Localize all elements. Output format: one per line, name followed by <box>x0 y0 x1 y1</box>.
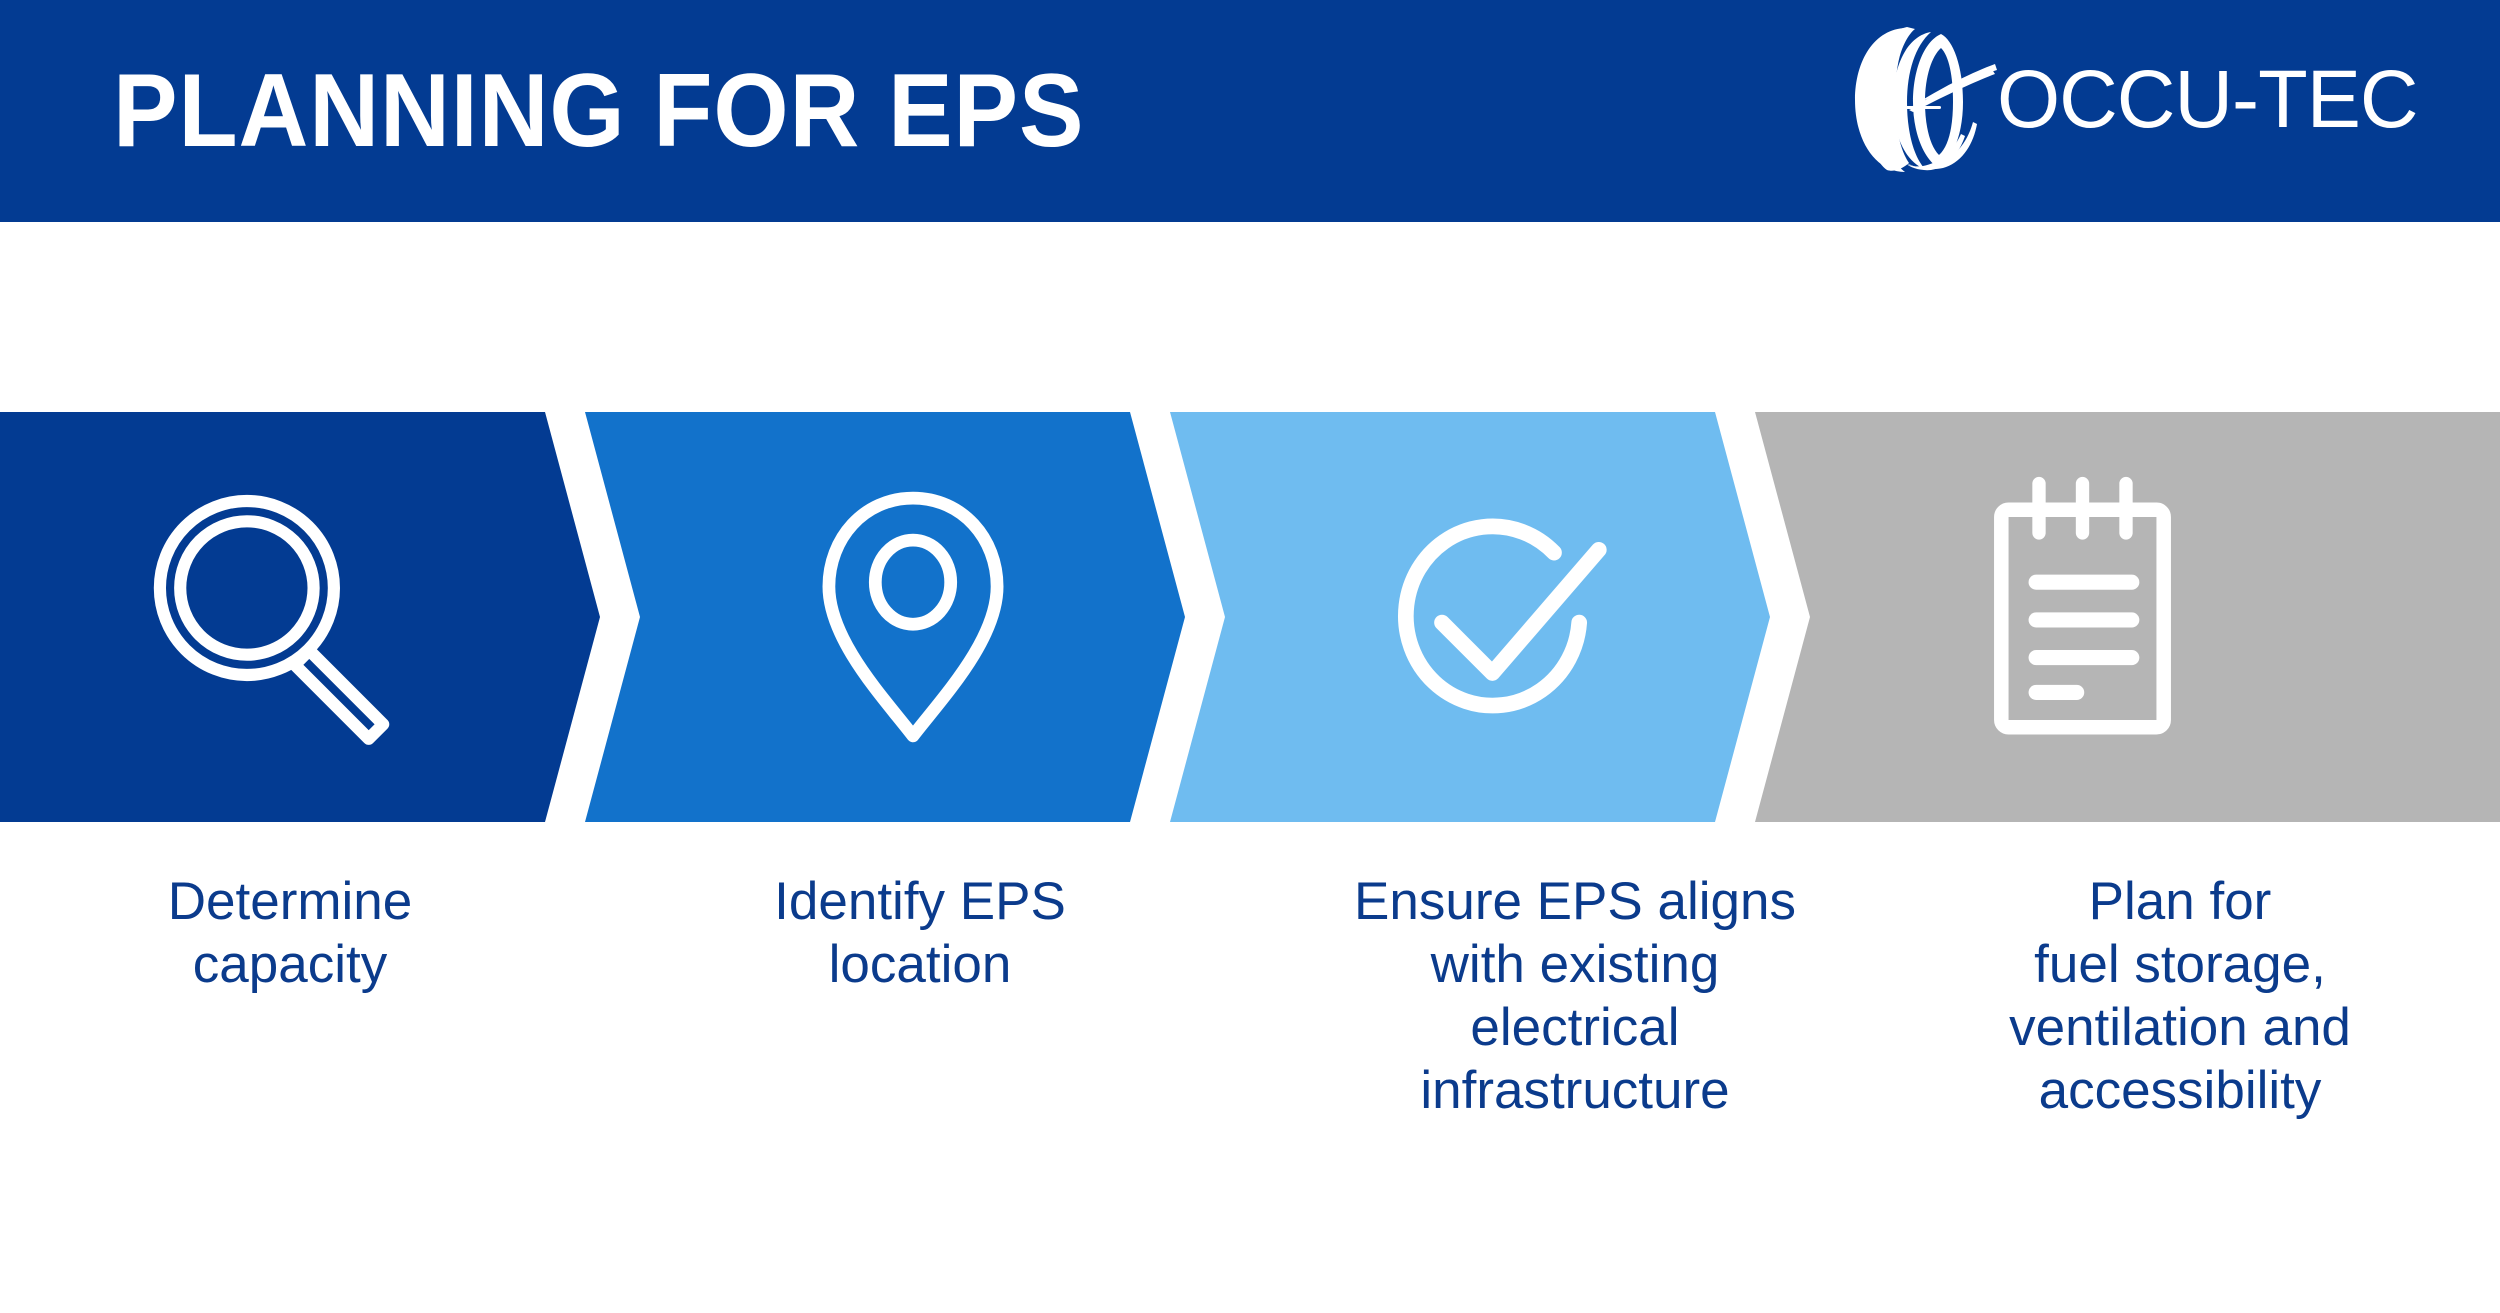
caption-step-2: Identify EPS location <box>680 870 1160 996</box>
brand-logo: OCCU-TEC <box>1845 22 2455 177</box>
chevron-step-4[interactable] <box>1755 412 2500 822</box>
chevron-shape-3 <box>1170 412 1770 822</box>
chevron-step-3[interactable] <box>1170 412 1770 822</box>
page-title: PLANNING FOR EPS <box>113 56 1084 166</box>
chevron-step-2[interactable] <box>585 412 1185 822</box>
caption-step-3: Ensure EPS aligns with existing electric… <box>1315 870 1835 1122</box>
chevron-step-1[interactable] <box>0 412 600 822</box>
step-captions: Determine capacity Identify EPS location… <box>0 870 2500 1170</box>
chevron-shape-4 <box>1755 412 2500 822</box>
occu-tec-swoosh-globe-icon <box>1845 22 2003 177</box>
chevron-shape-1 <box>0 412 600 822</box>
caption-step-4: Plan for fuel storage, ventilation and a… <box>1930 870 2430 1122</box>
logo-wordmark: OCCU-TEC <box>1997 59 2418 141</box>
chevron-shape-2 <box>585 412 1185 822</box>
process-chevron-band <box>0 412 2500 822</box>
caption-step-1: Determine capacity <box>30 870 550 996</box>
